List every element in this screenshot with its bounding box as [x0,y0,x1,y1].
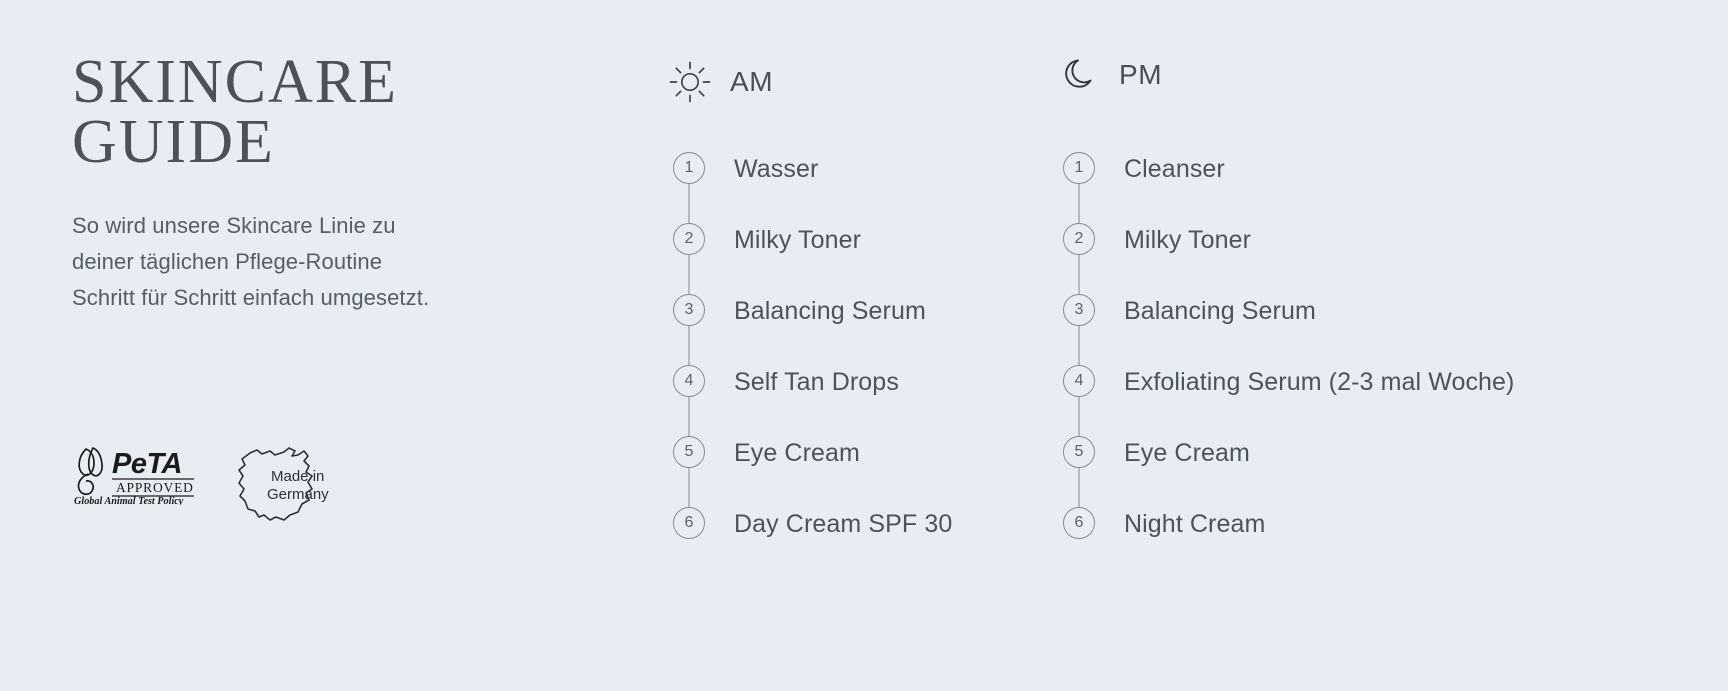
germany-badge-line2: Germany [267,486,329,503]
step-marker: 3 [665,294,713,326]
step-marker: 5 [665,436,713,468]
routine-step: 6 Night Cream [1055,507,1514,578]
step-number: 3 [673,294,705,326]
step-marker: 4 [1055,365,1103,397]
routine-header-pm: PM [1059,54,1162,96]
step-label: Cleanser [1124,152,1225,186]
routine-step: 5 Eye Cream [665,436,952,507]
peta-status-text: APPROVED [116,480,194,495]
step-number: 5 [1063,436,1095,468]
step-number: 4 [1063,365,1095,397]
made-in-germany-badge: Made in Germany [226,443,336,530]
step-marker: 6 [1055,507,1103,539]
moon-icon [1059,54,1101,96]
peta-badge-graphic: PeTA APPROVED Global Animal Test Policy [72,443,196,505]
step-label: Milky Toner [1124,223,1251,257]
routine-label-am: AM [730,66,773,98]
step-label: Balancing Serum [1124,294,1316,328]
step-marker: 1 [1055,152,1103,184]
routine-step: 6 Day Cream SPF 30 [665,507,952,578]
routine-step: 5 Eye Cream [1055,436,1514,507]
step-number: 3 [1063,294,1095,326]
step-label: Exfoliating Serum (2-3 mal Woche) [1124,365,1514,399]
intro-description: So wird unsere Skincare Linie zu deiner … [72,208,444,315]
routine-step: 1 Wasser [665,152,952,223]
germany-map-icon: Made in Germany [226,443,336,525]
step-number: 2 [673,223,705,255]
step-marker: 2 [665,223,713,255]
step-marker: 3 [1055,294,1103,326]
routine-step: 2 Milky Toner [1055,223,1514,294]
step-marker: 2 [1055,223,1103,255]
badge-group: PeTA APPROVED Global Animal Test Policy … [72,443,336,530]
step-marker: 6 [665,507,713,539]
step-label: Eye Cream [1124,436,1250,470]
step-label: Night Cream [1124,507,1265,541]
step-label: Eye Cream [734,436,860,470]
routine-step: 1 Cleanser [1055,152,1514,223]
step-number: 1 [673,152,705,184]
step-label: Milky Toner [734,223,861,257]
page-title: SKINCARE GUIDE [72,52,542,172]
routine-header-am: AM [668,60,773,104]
step-label: Wasser [734,152,818,186]
sun-icon [668,60,712,104]
step-number: 6 [673,507,705,539]
skincare-guide-page: SKINCARE GUIDE So wird unsere Skincare L… [0,0,1728,691]
routine-label-pm: PM [1119,59,1162,91]
step-number: 5 [673,436,705,468]
step-number: 6 [1063,507,1095,539]
step-marker: 5 [1055,436,1103,468]
routine-step: 3 Balancing Serum [665,294,952,365]
step-label: Self Tan Drops [734,365,899,399]
routine-step: 3 Balancing Serum [1055,294,1514,365]
step-label: Day Cream SPF 30 [734,507,952,541]
step-marker: 4 [665,365,713,397]
routine-step: 4 Exfoliating Serum (2-3 mal Woche) [1055,365,1514,436]
step-number: 2 [1063,223,1095,255]
peta-wordmark: PeTA [112,448,182,480]
peta-approved-badge: PeTA APPROVED Global Animal Test Policy [72,443,196,510]
step-label: Balancing Serum [734,294,926,328]
routine-steps-am: 1 Wasser 2 Milky Toner 3 Balancing Serum… [665,152,952,578]
routine-steps-pm: 1 Cleanser 2 Milky Toner 3 Balancing Ser… [1055,152,1514,578]
germany-badge-line1: Made in [271,468,324,485]
intro-section: SKINCARE GUIDE So wird unsere Skincare L… [72,52,542,315]
step-number: 1 [1063,152,1095,184]
step-marker: 1 [665,152,713,184]
routine-step: 2 Milky Toner [665,223,952,294]
step-number: 4 [673,365,705,397]
routine-step: 4 Self Tan Drops [665,365,952,436]
peta-policy-text: Global Animal Test Policy [74,496,184,505]
